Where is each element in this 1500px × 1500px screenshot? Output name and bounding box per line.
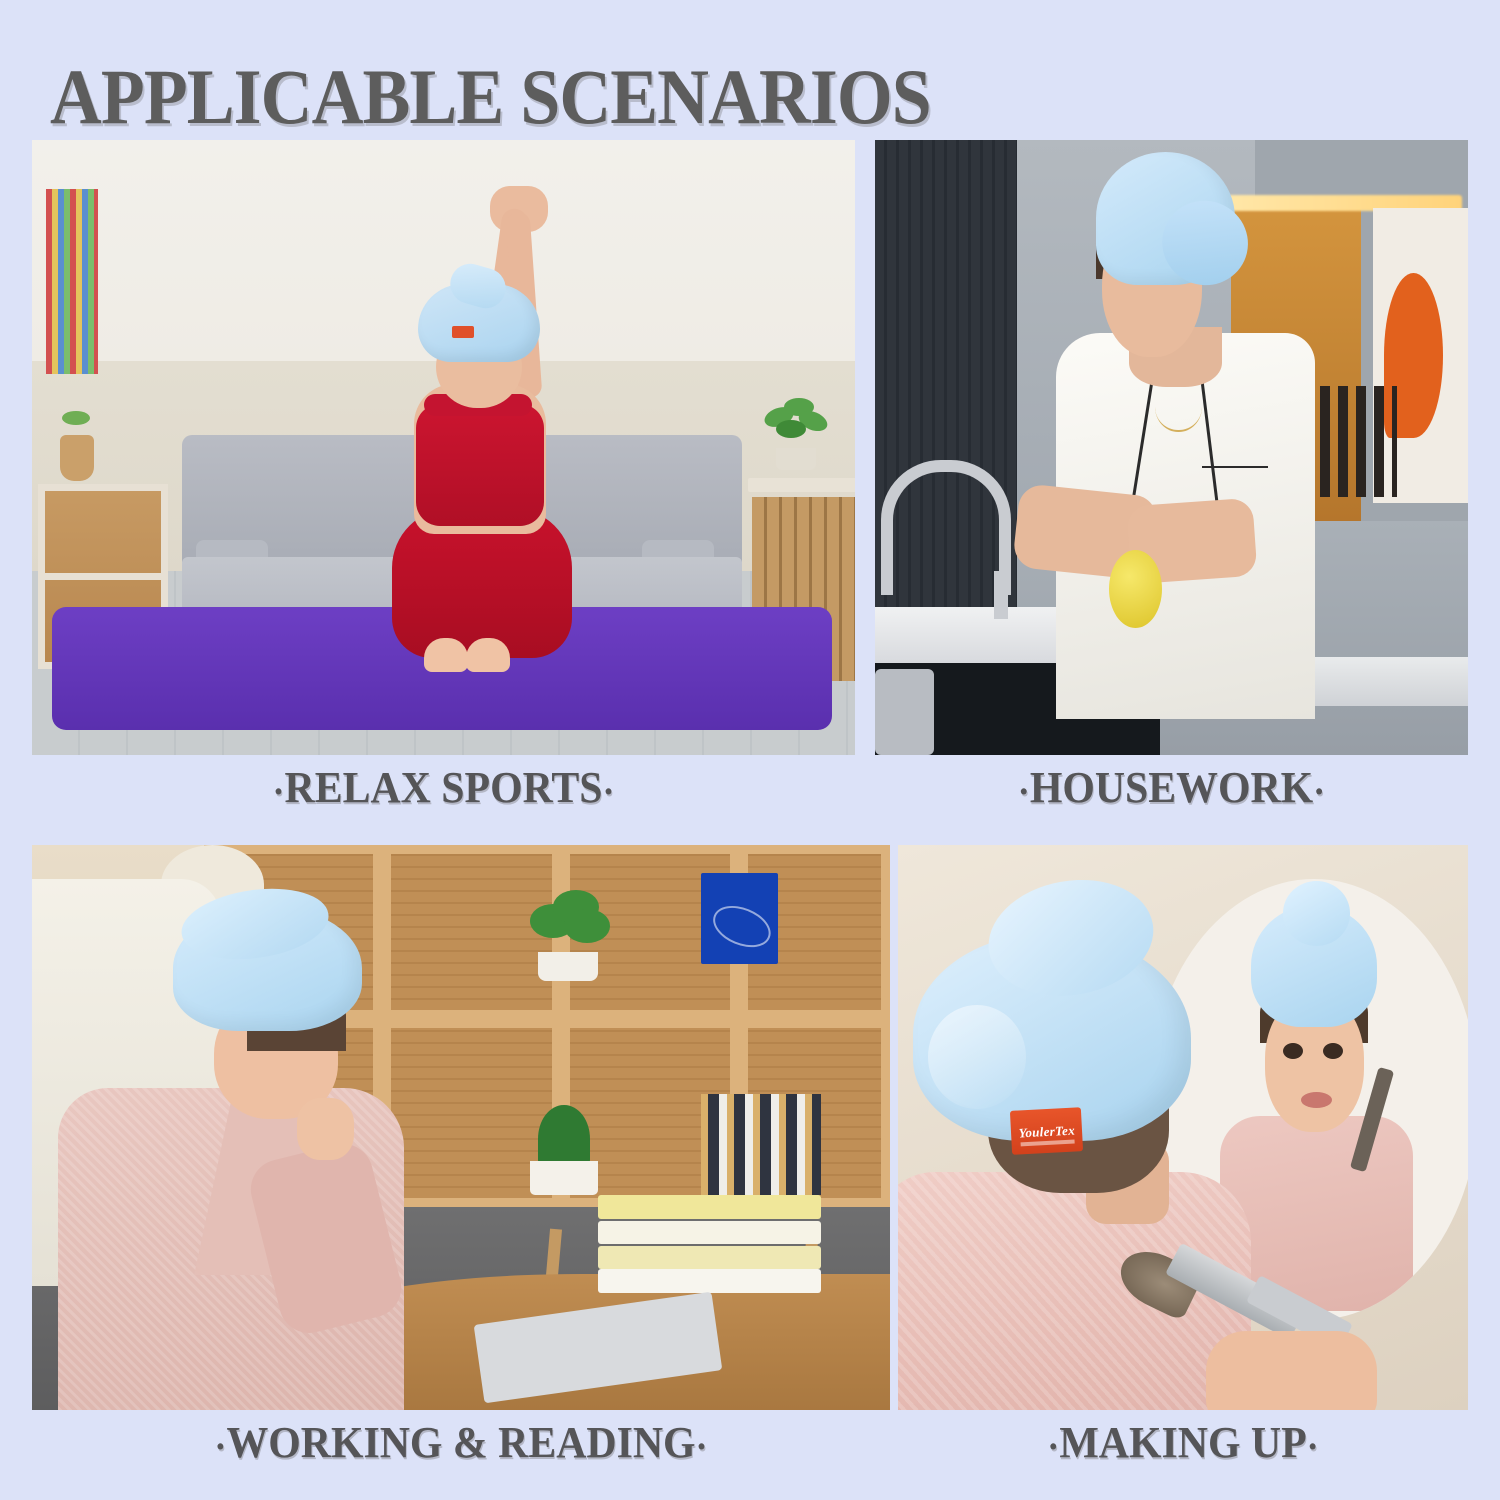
plant-pot — [776, 448, 816, 470]
shelf-plant-icon — [530, 890, 607, 958]
caption-bullet-left: · — [214, 1426, 226, 1468]
yellow-apple — [1109, 550, 1162, 628]
caption-working-reading: ·WORKING & READING· — [53, 1417, 868, 1469]
caption-bullet-left: · — [1047, 1426, 1059, 1468]
person-reading — [58, 890, 470, 1410]
foot — [424, 638, 468, 672]
foot — [466, 638, 510, 672]
scenario-card-working-reading[interactable]: ·WORKING & READING· — [32, 845, 890, 1410]
shirt-pocket — [1202, 466, 1268, 468]
caption-text: MAKING UP — [1059, 1418, 1306, 1467]
person-doing-housework — [1029, 152, 1361, 755]
stack-of-books — [598, 1195, 821, 1285]
caption-bullet-right: · — [696, 1426, 708, 1468]
towel-fold-highlight — [928, 1005, 1026, 1109]
vase-plant-icon — [62, 411, 90, 425]
reflected-lips — [1301, 1092, 1332, 1108]
side-table-top — [748, 478, 855, 492]
reflected-towel-knot — [1283, 881, 1350, 946]
caption-making-up: ·MAKING UP· — [912, 1417, 1454, 1469]
brand-tag: YoulerTex — [1010, 1108, 1084, 1156]
scenario-grid: ·RELAX SPORTS· — [32, 140, 1468, 1450]
faucet-base — [875, 669, 934, 755]
caption-relax-sports: ·RELAX SPORTS· — [53, 762, 835, 814]
scenario-card-making-up[interactable]: YoulerTex ·MAKING UP· — [898, 845, 1468, 1410]
photo-working-reading — [32, 845, 890, 1410]
caption-housework: ·HOUSEWORK· — [890, 762, 1453, 814]
vase — [60, 435, 94, 481]
caption-bullet-right: · — [602, 771, 614, 813]
photo-housework — [875, 140, 1468, 755]
caption-bullet-right: · — [1307, 1426, 1319, 1468]
caption-text: WORKING & READING — [226, 1418, 695, 1467]
brand-tag-label: YoulerTex — [1018, 1124, 1075, 1140]
page-title: APPLICABLE SCENARIOS — [50, 52, 931, 142]
photo-relax-sports — [32, 140, 855, 755]
caption-text: HOUSEWORK — [1030, 763, 1313, 812]
hand-holding-brush — [1206, 1331, 1377, 1410]
caption-text: RELAX SPORTS — [285, 763, 603, 812]
scenario-card-relax-sports[interactable]: ·RELAX SPORTS· — [32, 140, 855, 755]
caption-bullet-left: · — [272, 771, 284, 813]
hand-on-chin — [297, 1098, 355, 1160]
red-sports-top — [416, 404, 544, 526]
necklace — [1155, 381, 1201, 431]
cactus-pot — [530, 1161, 599, 1195]
faucet — [881, 460, 1011, 595]
person-doing-yoga — [362, 208, 582, 700]
scenario-card-housework[interactable]: ·HOUSEWORK· — [875, 140, 1468, 755]
faucet-spout — [994, 571, 1008, 619]
plant-pot — [538, 952, 598, 980]
potted-plant-icon — [764, 398, 830, 450]
photo-making-up: YoulerTex — [898, 845, 1468, 1410]
books-on-shelf — [701, 1094, 821, 1196]
blue-poster-book — [701, 873, 778, 963]
caption-bullet-left: · — [1018, 771, 1030, 813]
books-on-shelf — [46, 189, 98, 374]
brand-tag-icon — [452, 326, 474, 338]
caption-bullet-right: · — [1313, 771, 1325, 813]
